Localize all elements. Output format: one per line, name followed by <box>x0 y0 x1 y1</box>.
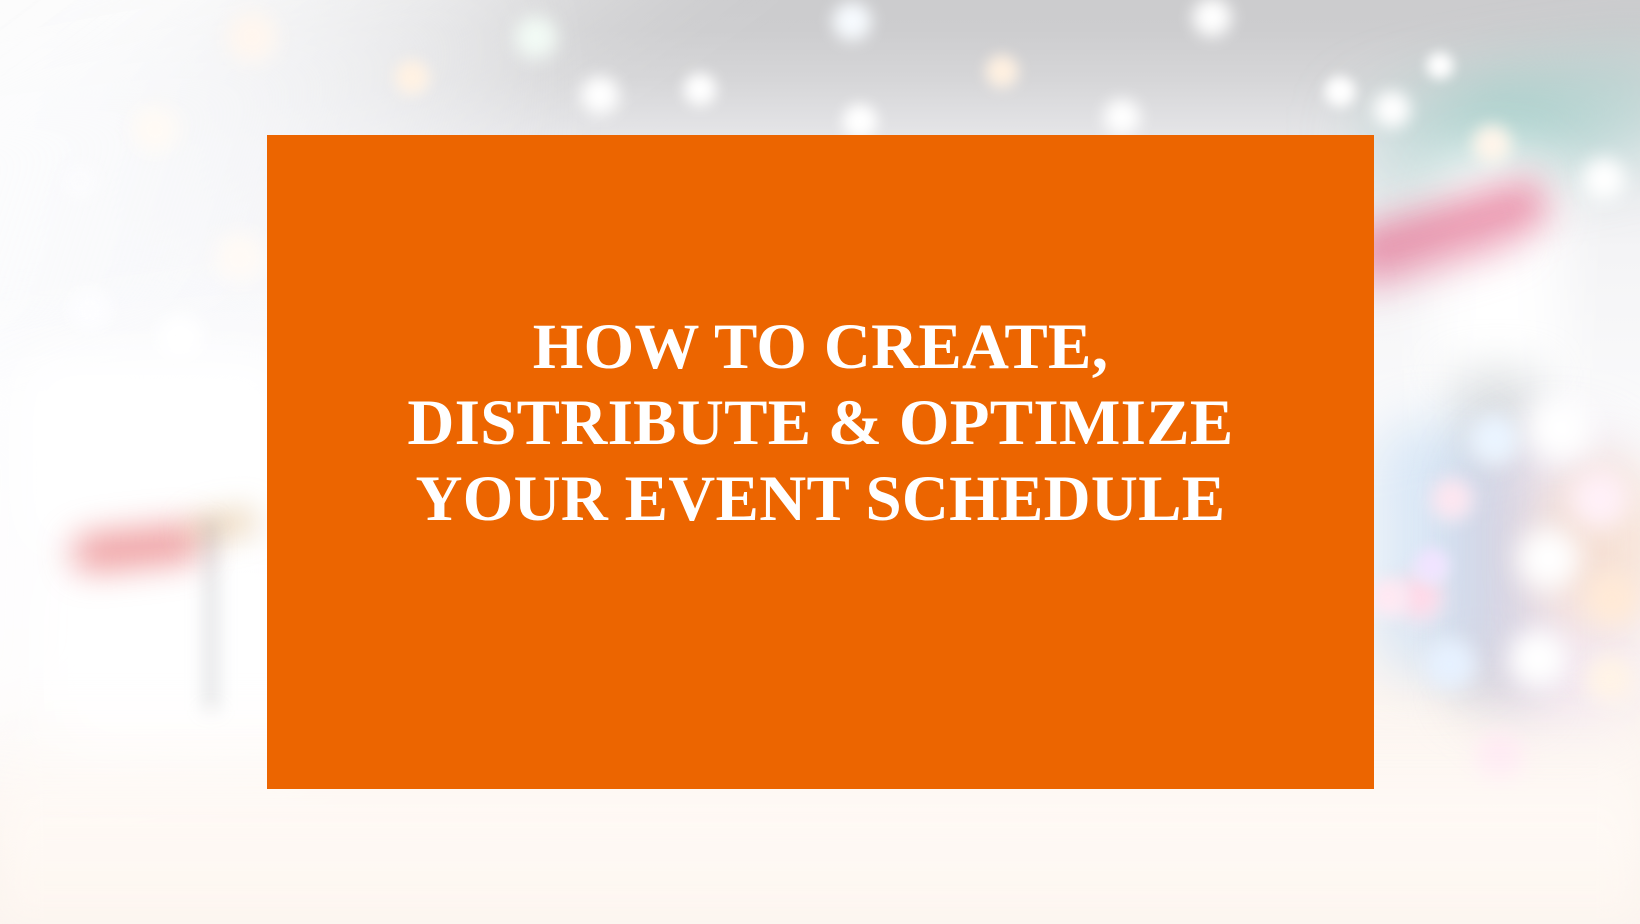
title-line-3: YOUR EVENT SCHEDULE <box>267 461 1374 537</box>
hero-banner: HOW TO CREATE, DISTRIBUTE & OPTIMIZE YOU… <box>0 0 1640 924</box>
page-title: HOW TO CREATE, DISTRIBUTE & OPTIMIZE YOU… <box>267 309 1374 615</box>
stanchion-post-blur <box>204 520 218 710</box>
peach-light-glow <box>1540 460 1640 630</box>
title-line-1: HOW TO CREATE, <box>267 309 1374 385</box>
title-card: HOW TO CREATE, DISTRIBUTE & OPTIMIZE YOU… <box>267 135 1374 789</box>
title-line-2: DISTRIBUTE & OPTIMIZE <box>267 385 1374 461</box>
